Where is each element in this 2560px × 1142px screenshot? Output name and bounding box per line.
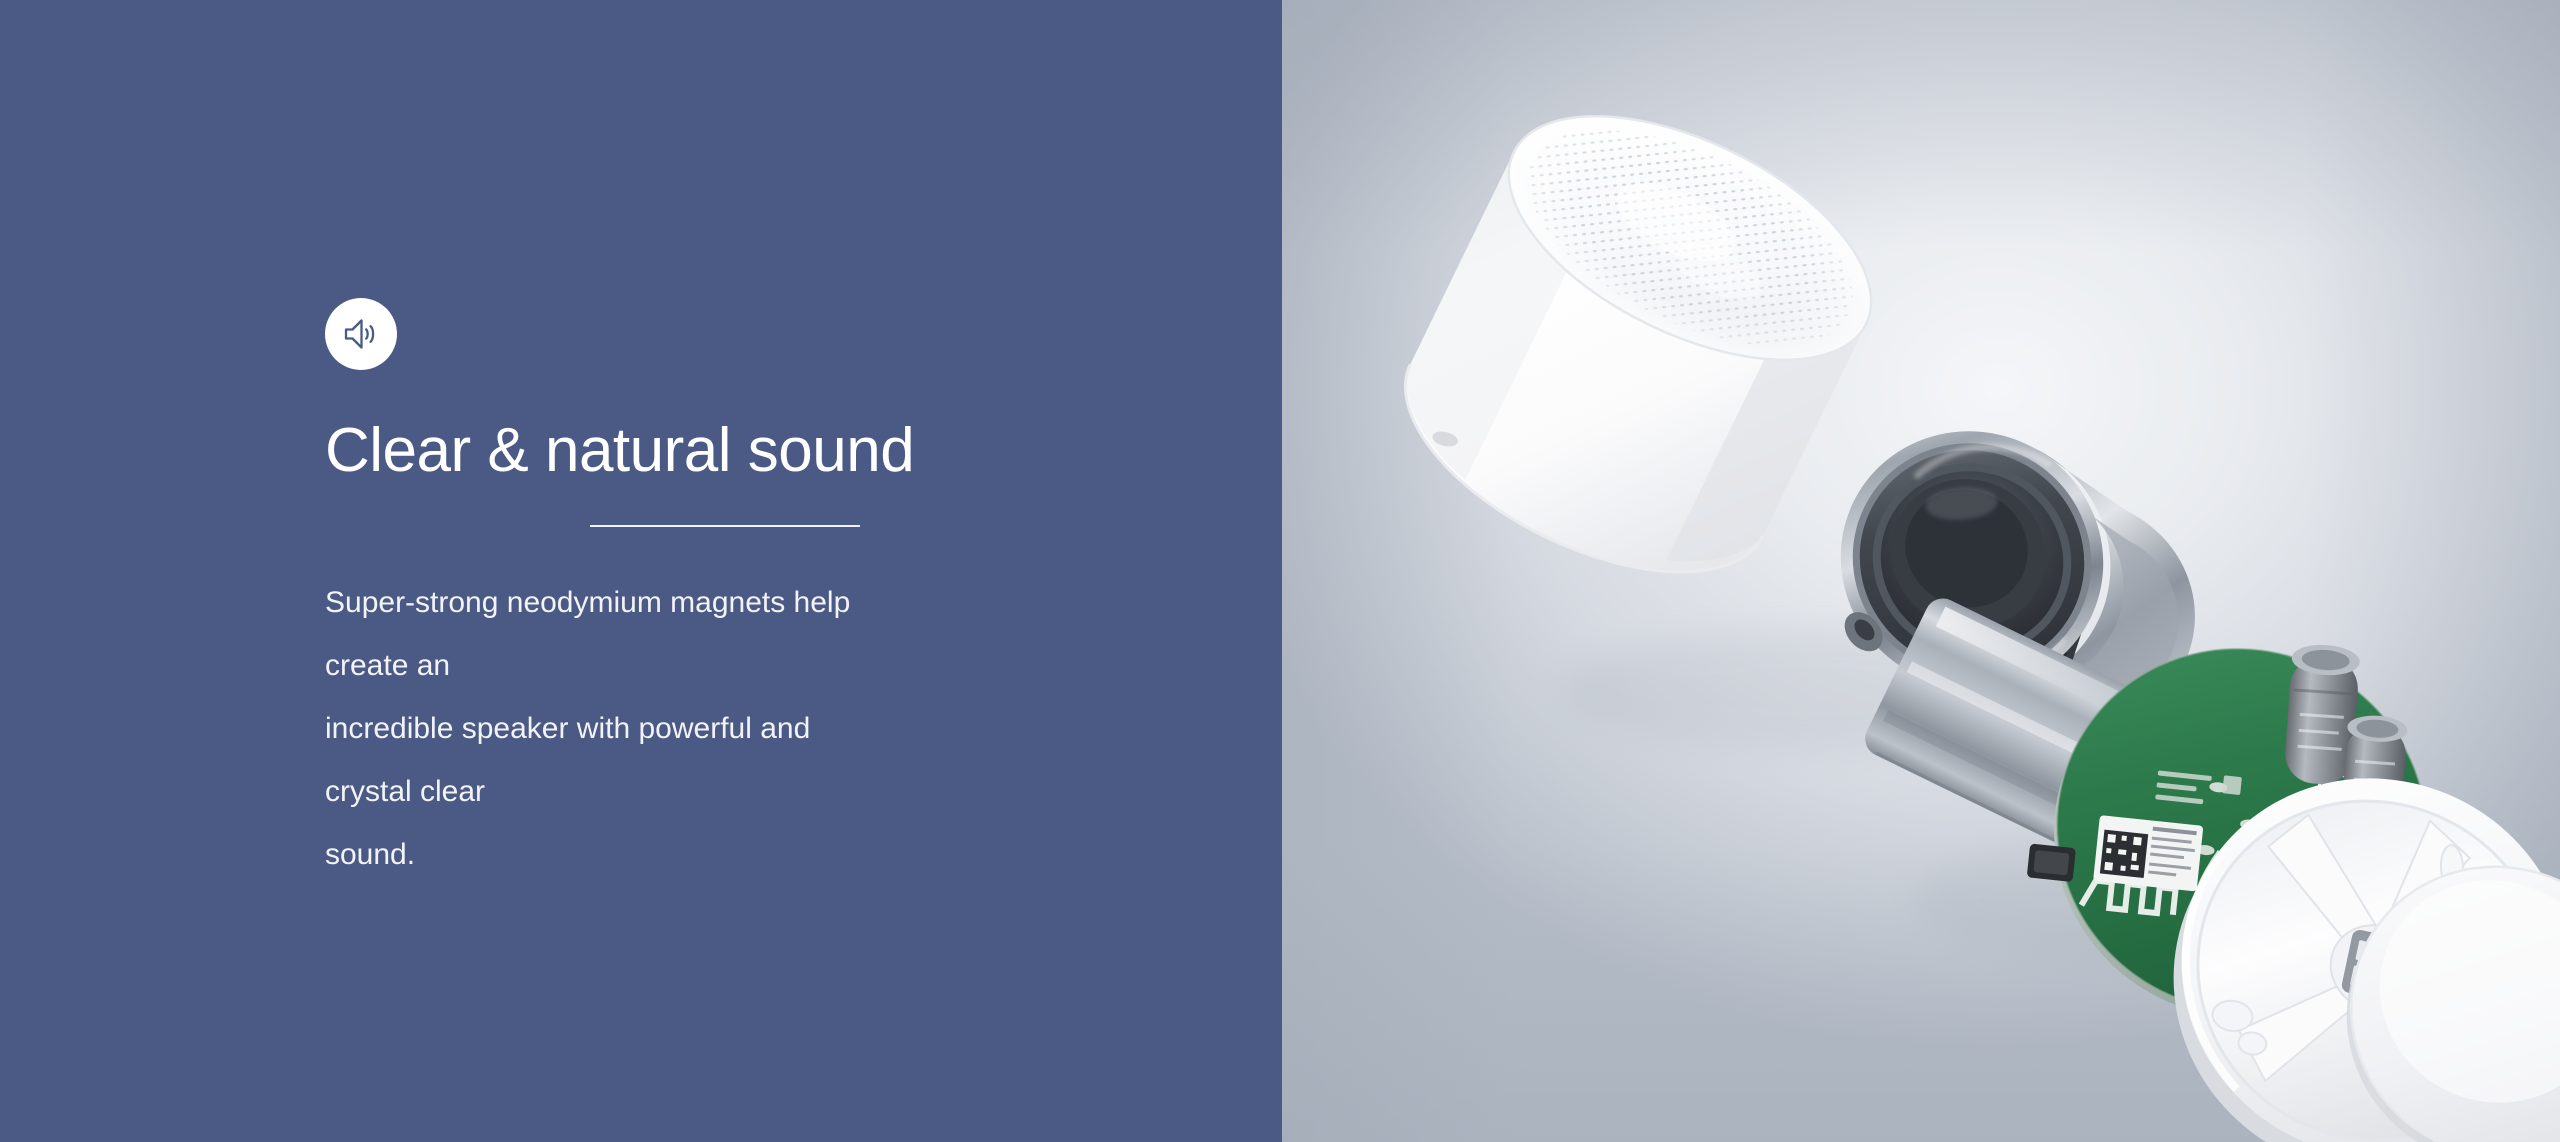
top-mesh-housing	[1368, 66, 1908, 623]
volume-speaker-icon	[325, 298, 397, 370]
text-panel-content: Clear & natural sound Super-strong neody…	[325, 298, 1125, 886]
feature-description: Super-strong neodymium magnets help crea…	[325, 571, 1125, 886]
text-panel: Clear & natural sound Super-strong neody…	[0, 0, 1282, 1142]
page-title: Clear & natural sound	[325, 416, 1125, 485]
exploded-speaker-illustration	[1282, 0, 2560, 1142]
feature-banner: Clear & natural sound Super-strong neody…	[0, 0, 2560, 1142]
product-image-panel	[1282, 0, 2560, 1142]
title-divider	[590, 525, 860, 527]
